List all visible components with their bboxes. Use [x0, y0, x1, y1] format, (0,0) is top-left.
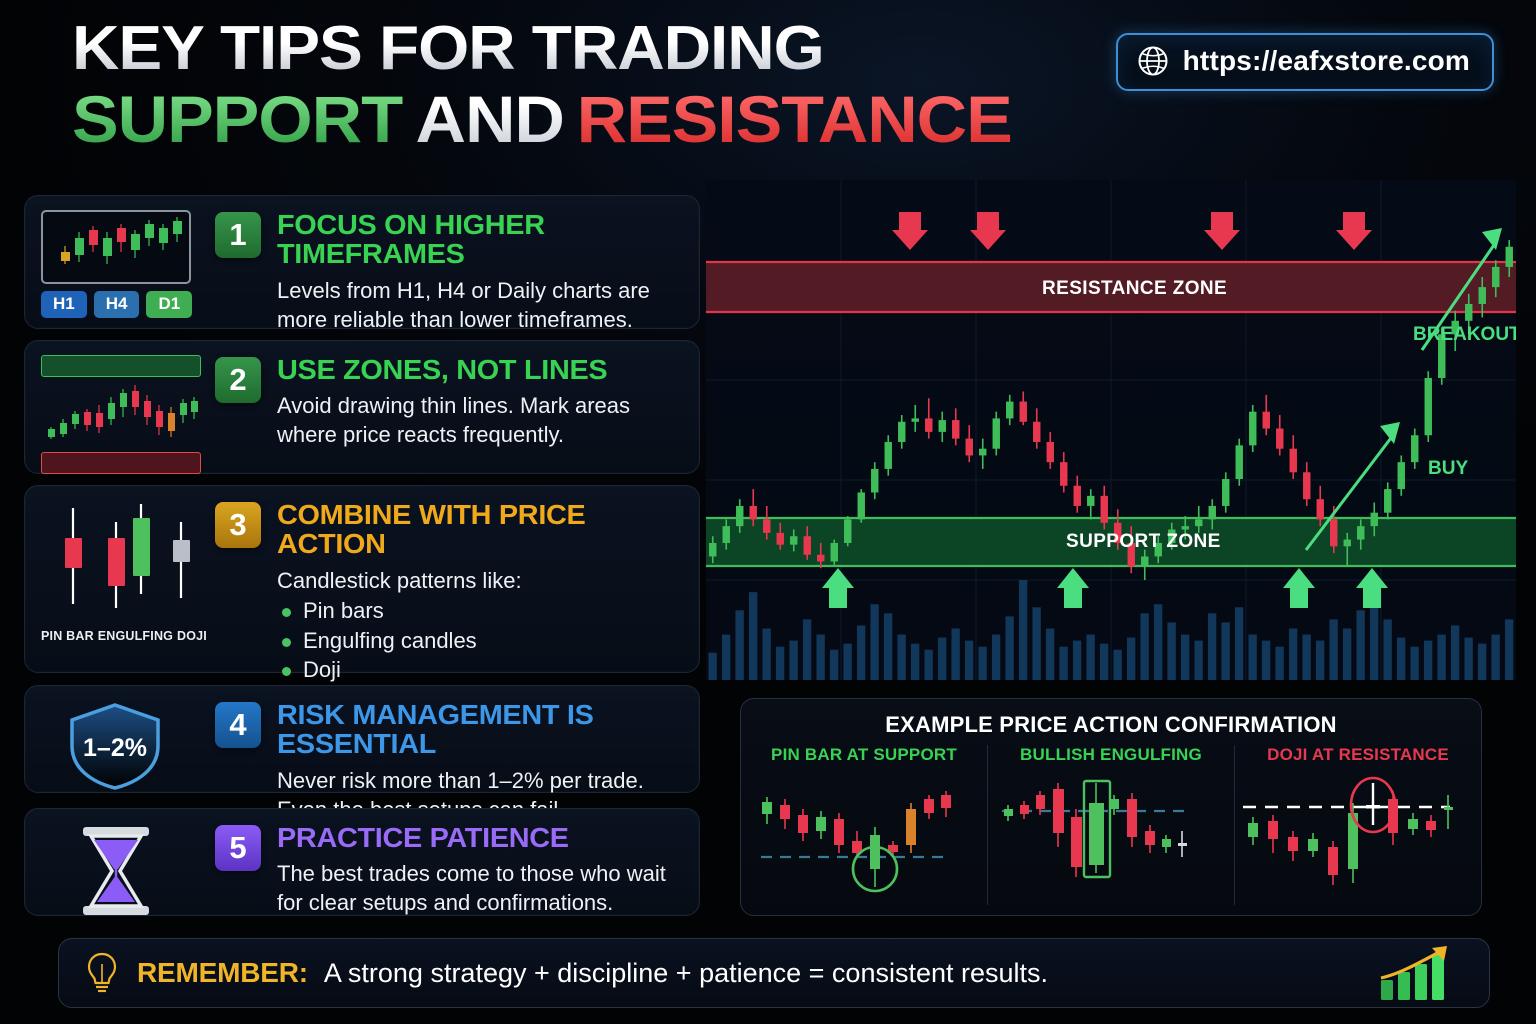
example-panel-title: EXAMPLE PRICE ACTION CONFIRMATION	[741, 699, 1481, 738]
list-item: Pin bars	[277, 596, 683, 626]
globe-icon	[1136, 44, 1170, 78]
patterns-thumbnail: PIN BAR ENGULFING DOJI	[41, 500, 209, 643]
footer-text: A strong strategy + discipline + patienc…	[324, 958, 1048, 989]
tip-card-5[interactable]: 5 PRACTICE PATIENCE The best trades come…	[24, 808, 700, 916]
tip-heading-2: USE ZONES, NOT LINES	[277, 355, 695, 384]
example-panel: EXAMPLE PRICE ACTION CONFIRMATION PIN BA…	[740, 698, 1482, 916]
pattern-label-pin-bar: PIN BAR	[41, 629, 94, 643]
engulfing-example-chart	[988, 769, 1218, 894]
example-column-engulfing[interactable]: BULLISH ENGULFING	[987, 745, 1234, 905]
chart-canvas	[706, 180, 1516, 680]
tip-card-1[interactable]: H1 H4 D1 1 FOCUS ON HIGHER TIMEFRAMES Le…	[24, 195, 700, 329]
list-item: Doji	[277, 655, 683, 685]
tip-card-3[interactable]: PIN BAR ENGULFING DOJI 3 COMBINE WITH PR…	[24, 485, 700, 673]
tip-number-4: 4	[215, 702, 261, 748]
shield-risk-label: 1–2%	[83, 734, 147, 762]
website-url-badge[interactable]: https://eafxstore.com	[1116, 33, 1494, 91]
doji-example-chart	[1235, 769, 1465, 894]
lightbulb-icon	[83, 950, 121, 996]
timeframe-chip-h4[interactable]: H4	[94, 291, 140, 318]
tip-body-3: Candlestick patterns like:	[277, 566, 683, 595]
tip-heading-3: COMBINE WITH PRICE ACTION	[277, 500, 695, 559]
list-item: Engulfing candles	[277, 626, 683, 656]
tip-card-4[interactable]: 1–2% 4 RISK MANAGEMENT IS ESSENTIAL Neve…	[24, 685, 700, 793]
tip-card-2[interactable]: 2 USE ZONES, NOT LINES Avoid drawing thi…	[24, 340, 700, 474]
tip-body-1: Levels from H1, H4 or Daily charts are m…	[277, 276, 683, 334]
example-heading-doji: DOJI AT RESISTANCE	[1235, 745, 1481, 765]
tip-number-1: 1	[215, 212, 261, 258]
footer-remember-bar: REMEMBER: A strong strategy + discipline…	[58, 938, 1490, 1008]
growth-bars-icon	[1377, 944, 1465, 1002]
main-price-chart[interactable]: RESISTANCE ZONE SUPPORT ZONE BREAKOUT BU…	[706, 180, 1516, 680]
example-heading-engulfing: BULLISH ENGULFING	[988, 745, 1234, 765]
tip-body-5: The best trades come to those who wait f…	[277, 859, 683, 917]
zone-band-support-thumb	[41, 452, 201, 474]
mini-candle-chart-zones	[41, 381, 201, 443]
pattern-label-engulfing: ENGULFING	[98, 629, 173, 643]
example-column-doji[interactable]: DOJI AT RESISTANCE	[1234, 745, 1481, 905]
hourglass-thumbnail	[41, 823, 209, 924]
pattern-label-doji: DOJI	[177, 629, 207, 643]
example-heading-pin-bar: PIN BAR AT SUPPORT	[741, 745, 987, 765]
footer-label: REMEMBER:	[137, 957, 308, 989]
title-line-2: SUPPORTANDRESISTANCE	[72, 86, 1012, 153]
title-resistance: RESISTANCE	[577, 82, 1012, 156]
tip-body-2: Avoid drawing thin lines. Mark areas whe…	[277, 391, 683, 449]
tip-heading-5: PRACTICE PATIENCE	[277, 823, 695, 852]
timeframe-chip-h1[interactable]: H1	[41, 291, 87, 318]
website-url-text: https://eafxstore.com	[1183, 45, 1470, 77]
pattern-bullet-list: Pin bars Engulfing candles Doji	[277, 596, 683, 685]
pattern-candles	[41, 500, 207, 620]
tip-number-3: 3	[215, 502, 261, 548]
timeframe-thumbnail: H1 H4 D1	[41, 210, 209, 318]
tip-number-2: 2	[215, 357, 261, 403]
timeframe-chips: H1 H4 D1	[41, 291, 209, 318]
tip-heading-4: RISK MANAGEMENT IS ESSENTIAL	[277, 700, 695, 759]
zones-thumbnail	[41, 355, 209, 474]
zone-band-resistance-thumb	[41, 355, 201, 377]
title-support: SUPPORT	[72, 82, 403, 156]
example-column-pin-bar[interactable]: PIN BAR AT SUPPORT	[741, 745, 987, 905]
page-title: KEY TIPS FOR TRADING SUPPORTANDRESISTANC…	[72, 18, 959, 153]
timeframe-chip-d1[interactable]: D1	[146, 291, 192, 318]
title-and: AND	[415, 82, 563, 156]
shield-icon: 1–2%	[55, 700, 175, 792]
hourglass-icon	[61, 823, 171, 919]
title-line-1: KEY TIPS FOR TRADING	[72, 18, 1012, 80]
pin-bar-example-chart	[741, 769, 971, 894]
tip-number-5: 5	[215, 825, 261, 871]
header: KEY TIPS FOR TRADING SUPPORTANDRESISTANC…	[0, 0, 1536, 180]
shield-thumbnail: 1–2%	[41, 700, 209, 797]
mini-candle-chart	[41, 210, 191, 284]
tip-heading-1: FOCUS ON HIGHER TIMEFRAMES	[277, 210, 695, 269]
